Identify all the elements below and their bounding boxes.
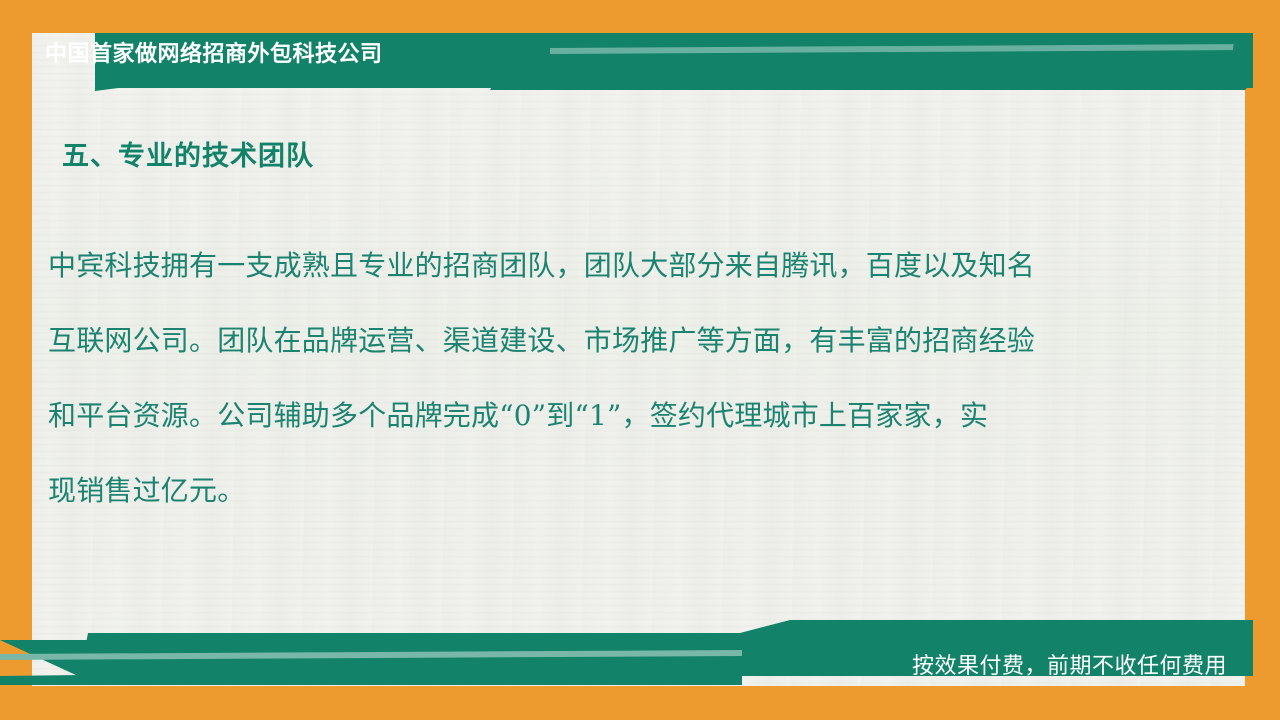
body-paragraph: 中宾科技拥有一支成熟且专业的招商团队，团队大部分来自腾讯，百度以及知名 互联网公…: [48, 228, 1188, 528]
body-line-4: 现销售过亿元。: [48, 453, 1188, 528]
slide-canvas: 中国首家做网络招商外包科技公司 五、专业的技术团队 中宾科技拥有一支成熟且专业的…: [0, 0, 1280, 720]
section-heading: 五、专业的技术团队: [62, 134, 314, 173]
body-line-3: 和平台资源。公司辅助多个品牌完成“0”到“1”，签约代理城市上百家家，实: [48, 378, 1188, 453]
body-line-2: 互联网公司。团队在品牌运营、渠道建设、市场推广等方面，有丰富的招商经验: [48, 303, 1188, 378]
body-line-1: 中宾科技拥有一支成熟且专业的招商团队，团队大部分来自腾讯，百度以及知名: [48, 228, 1188, 303]
